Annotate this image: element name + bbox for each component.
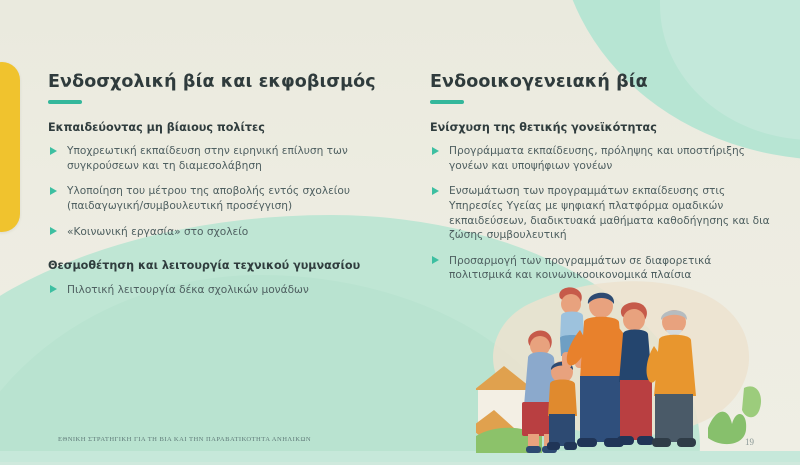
list-item: Πιλοτική λειτουργία δέκα σχολικών μονάδω… (48, 283, 388, 298)
triangle-bullet-icon (432, 256, 439, 264)
list-item-text: Υποχρεωτική εκπαίδευση στην ειρηνική επί… (67, 145, 348, 172)
list-item-text: Ενσωμάτωση των προγραμμάτων εκπαίδευσης … (449, 185, 770, 241)
triangle-bullet-icon (50, 285, 57, 293)
left-content-column: Ενδοσχολική βία και εκφοβισμός Εκπαιδεύο… (48, 72, 388, 297)
left-subheading-1: Εκπαιδεύοντας μη βίαιους πολίτες (48, 121, 388, 136)
list-item: «Κοινωνική εργασία» στο σχολείο (48, 225, 388, 240)
left-subheading-2: Θεσμοθέτηση και λειτουργία τεχνικού γυμν… (48, 259, 388, 274)
page-number: 19 (745, 437, 754, 447)
presentation-slide: Ενδοσχολική βία Ενδοσχολική βία και εκφο… (0, 0, 800, 465)
list-item: Προγράμματα εκπαίδευσης, πρόληψης και υπ… (430, 144, 775, 173)
right-bullet-list-1: Προγράμματα εκπαίδευσης, πρόληψης και υπ… (430, 144, 775, 283)
footer-text: ΕΘΝΙΚΗ ΣΤΡΑΤΗΓΙΚΗ ΓΙΑ ΤΗ ΒΙΑ ΚΑΙ ΤΗΝ ΠΑΡ… (58, 436, 311, 443)
list-item: Υποχρεωτική εκπαίδευση στην ειρηνική επί… (48, 144, 388, 173)
list-item: Ενσωμάτωση των προγραμμάτων εκπαίδευσης … (430, 184, 775, 242)
triangle-bullet-icon (50, 147, 57, 155)
list-item-text: Υλοποίηση του μέτρου της αποβολής εντός … (67, 185, 350, 212)
right-title-underline (430, 100, 464, 104)
triangle-bullet-icon (50, 187, 57, 195)
left-column-title: Ενδοσχολική βία και εκφοβισμός (48, 72, 388, 93)
right-content-column: Ενδοοικογενειακή βία Ενίσχυση της θετική… (430, 72, 775, 283)
list-item-text: «Κοινωνική εργασία» στο σχολείο (67, 226, 248, 238)
left-bullet-list-2: Πιλοτική λειτουργία δέκα σχολικών μονάδω… (48, 283, 388, 298)
right-subheading-1: Ενίσχυση της θετικής γονεϊκότητας (430, 121, 775, 136)
left-title-underline (48, 100, 82, 104)
section-tab: Ενδοσχολική βία (0, 62, 20, 232)
family-group-illustration (476, 278, 776, 453)
list-item: Υλοποίηση του μέτρου της αποβολής εντός … (48, 184, 388, 213)
left-bullet-list-1: Υποχρεωτική εκπαίδευση στην ειρηνική επί… (48, 144, 388, 239)
triangle-bullet-icon (432, 187, 439, 195)
section-tab-label: Ενδοσχολική βία (0, 95, 15, 199)
list-item-text: Πιλοτική λειτουργία δέκα σχολικών μονάδω… (67, 284, 309, 296)
list-item-text: Προγράμματα εκπαίδευσης, πρόληψης και υπ… (449, 145, 745, 172)
right-column-title: Ενδοοικογενειακή βία (430, 72, 775, 93)
triangle-bullet-icon (432, 147, 439, 155)
triangle-bullet-icon (50, 227, 57, 235)
